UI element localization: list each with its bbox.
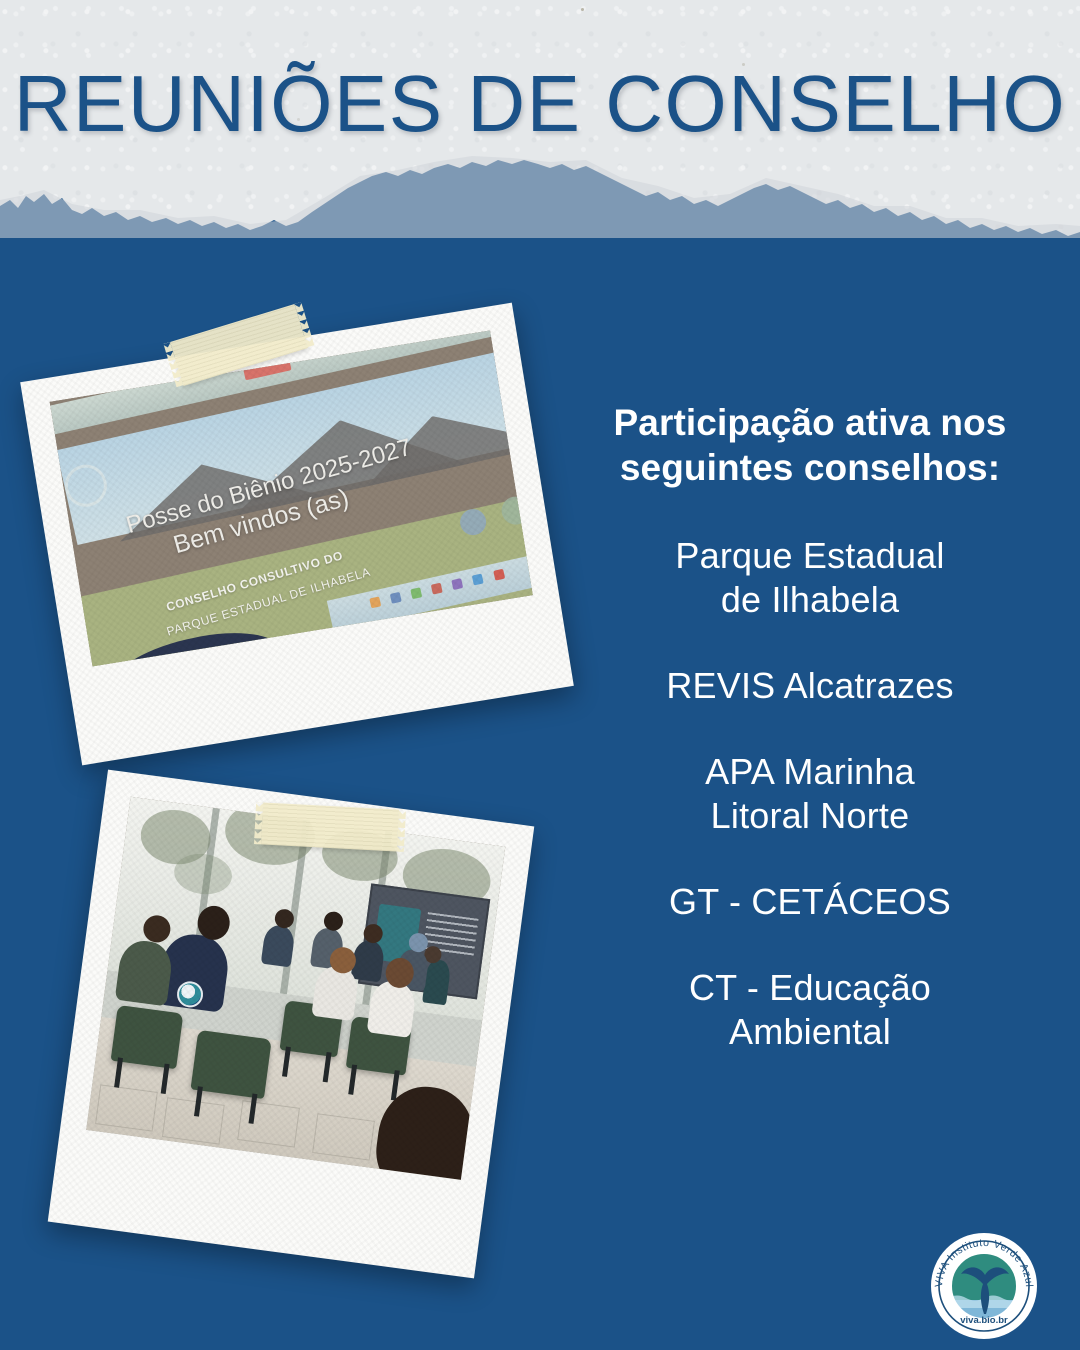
viva-instituto-verde-azul-logo-icon: VIVA Instituto Verde Azul viva.bio.br [928, 1230, 1040, 1342]
council-0-line-1: Parque Estadual [560, 534, 1060, 578]
lead-line-2: seguintes conselhos: [620, 447, 1000, 488]
brand-logo[interactable]: VIVA Instituto Verde Azul viva.bio.br [928, 1230, 1040, 1342]
council-item-2: APA Marinha Litoral Norte [560, 750, 1060, 838]
council-list: Parque Estadual de Ilhabela REVIS Alcatr… [560, 534, 1060, 1053]
council-0-line-2: de Ilhabela [560, 578, 1060, 622]
council-item-1: REVIS Alcatrazes [560, 664, 1060, 708]
council-item-4: CT - Educação Ambiental [560, 966, 1060, 1054]
torn-paper-edge-icon [0, 142, 1080, 252]
council-2-line-1: APA Marinha [560, 750, 1060, 794]
council-item-0: Parque Estadual de Ilhabela [560, 534, 1060, 622]
councils-text-column: Participação ativa nos seguintes conselh… [560, 400, 1060, 1054]
page-title: REUNIÕES DE CONSELHO [0, 58, 1080, 150]
poster-root: REUNIÕES DE CONSELHO Posse do Biênio 202… [0, 0, 1080, 1350]
photo-projected-slide: Posse do Biênio 2025-2027 Bem vindos (as… [50, 331, 533, 667]
polaroid-photo-slide: Posse do Biênio 2025-2027 Bem vindos (as… [20, 303, 574, 766]
council-4-line-1: CT - Educação [560, 966, 1060, 1010]
council-3-line-1: GT - CETÁCEOS [560, 880, 1060, 924]
brand-website: viva.bio.br [960, 1315, 1008, 1326]
lead-line-1: Participação ativa nos [614, 402, 1007, 443]
council-4-line-2: Ambiental [560, 1010, 1060, 1054]
council-2-line-2: Litoral Norte [560, 794, 1060, 838]
washi-tape-bottom [261, 802, 399, 851]
photo-audience [86, 797, 505, 1180]
council-1-line-1: REVIS Alcatrazes [560, 664, 1060, 708]
council-item-3: GT - CETÁCEOS [560, 880, 1060, 924]
lead-heading: Participação ativa nos seguintes conselh… [574, 400, 1046, 490]
